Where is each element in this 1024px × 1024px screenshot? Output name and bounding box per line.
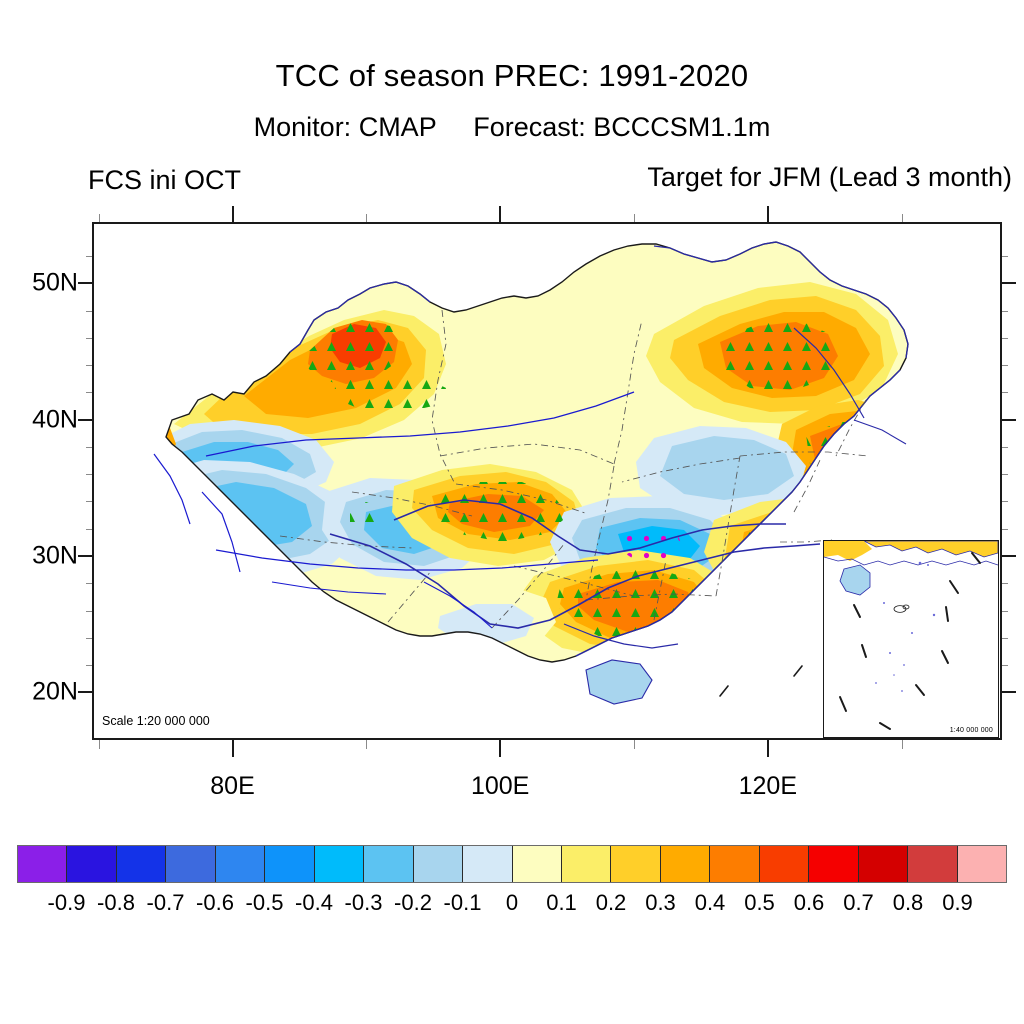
colorbar-cell[interactable] <box>117 846 166 882</box>
annotation-target-season: Target for JFM (Lead 3 month) <box>647 162 1012 193</box>
x-tick-major-top <box>499 206 501 222</box>
colorbar-tick-label: 0.1 <box>546 890 577 916</box>
x-tick-minor-top <box>99 214 100 222</box>
colorbar-tick-label: 0.9 <box>942 890 973 916</box>
colorbar-cell[interactable] <box>18 846 67 882</box>
colorbar-cell[interactable] <box>760 846 809 882</box>
y-tick-major-right <box>1000 419 1016 421</box>
colorbar-cell[interactable] <box>166 846 215 882</box>
colorbar-cell[interactable] <box>67 846 116 882</box>
x-tick-major-top <box>232 206 234 222</box>
colorbar-cell[interactable] <box>265 846 314 882</box>
colorbar-cell[interactable] <box>364 846 413 882</box>
map-scale-note: Scale 1:20 000 000 <box>102 714 210 728</box>
colorbar-tick-label: 0.8 <box>893 890 924 916</box>
x-tick-minor <box>634 740 635 749</box>
colorbar-tick-label: 0.3 <box>645 890 676 916</box>
x-tick-major <box>232 740 234 757</box>
colorbar-tick-label: -0.3 <box>345 890 383 916</box>
colorbar-tick-label: -0.2 <box>394 890 432 916</box>
colorbar-cell[interactable] <box>562 846 611 882</box>
colorbar-cell[interactable] <box>414 846 463 882</box>
x-tick-major <box>767 740 769 757</box>
colorbar-cell[interactable] <box>611 846 660 882</box>
x-tick-minor-top <box>634 214 635 222</box>
colorbar-tick-label: -0.9 <box>48 890 86 916</box>
y-axis-label: 30N <box>32 541 78 570</box>
colorbar-tick-label: 0.2 <box>596 890 627 916</box>
page-title: TCC of season PREC: 1991-2020 <box>0 58 1024 94</box>
subtitle-forecast: Forecast: BCCCSM1.1m <box>473 112 770 142</box>
inset-map-svg <box>824 541 998 737</box>
subtitle-monitor: Monitor: CMAP <box>254 112 437 142</box>
colorbar-tick-label: 0.6 <box>794 890 825 916</box>
x-tick-minor-top <box>366 214 367 222</box>
colorbar-tick-label: -0.5 <box>246 890 284 916</box>
colorbar-tick-labels: -0.9-0.8-0.7-0.6-0.5-0.4-0.3-0.2-0.100.1… <box>0 890 1024 920</box>
y-tick-major-right <box>1000 282 1016 284</box>
x-axis-label: 80E <box>210 772 254 801</box>
colorbar-tick-label: -0.4 <box>295 890 333 916</box>
colorbar-tick-label: -0.8 <box>97 890 135 916</box>
y-tick-major-right <box>1000 555 1016 557</box>
colorbar-cell[interactable] <box>859 846 908 882</box>
colorbar-tick-label: -0.6 <box>196 890 234 916</box>
colorbar[interactable] <box>17 845 1007 883</box>
subtitle: Monitor: CMAP Forecast: BCCCSM1.1m <box>0 112 1024 143</box>
colorbar-tick-label: -0.1 <box>444 890 482 916</box>
annotation-fcs-init: FCS ini OCT <box>88 165 241 196</box>
x-tick-major-top <box>767 206 769 222</box>
colorbar-tick-label: 0.7 <box>843 890 874 916</box>
colorbar-cell[interactable] <box>710 846 759 882</box>
colorbar-cell[interactable] <box>315 846 364 882</box>
colorbar-tick-label: 0 <box>506 890 518 916</box>
x-tick-minor-top <box>902 214 903 222</box>
south-china-sea-inset: 1:40 000 000 <box>823 540 999 738</box>
y-tick-major-right <box>1000 691 1016 693</box>
x-tick-minor <box>366 740 367 749</box>
colorbar-cell[interactable] <box>216 846 265 882</box>
x-tick-minor <box>99 740 100 749</box>
colorbar-cell[interactable] <box>513 846 562 882</box>
y-axis-label: 40N <box>32 405 78 434</box>
colorbar-cell[interactable] <box>463 846 512 882</box>
colorbar-tick-label: -0.7 <box>147 890 185 916</box>
x-tick-major <box>499 740 501 757</box>
colorbar-cell[interactable] <box>908 846 957 882</box>
colorbar-cell[interactable] <box>809 846 858 882</box>
x-axis-label: 100E <box>471 772 529 801</box>
y-axis-label: 20N <box>32 678 78 707</box>
colorbar-cell[interactable] <box>661 846 710 882</box>
inset-scale-note: 1:40 000 000 <box>950 727 993 734</box>
colorbar-tick-label: 0.5 <box>744 890 775 916</box>
figure-root: TCC of season PREC: 1991-2020 Monitor: C… <box>0 0 1024 1024</box>
y-axis-label: 50N <box>32 269 78 298</box>
x-axis-label: 120E <box>739 772 797 801</box>
colorbar-cell[interactable] <box>958 846 1006 882</box>
map-plot-panel: Scale 1:20 000 000 <box>92 222 1002 740</box>
x-tick-minor <box>902 740 903 749</box>
colorbar-tick-label: 0.4 <box>695 890 726 916</box>
